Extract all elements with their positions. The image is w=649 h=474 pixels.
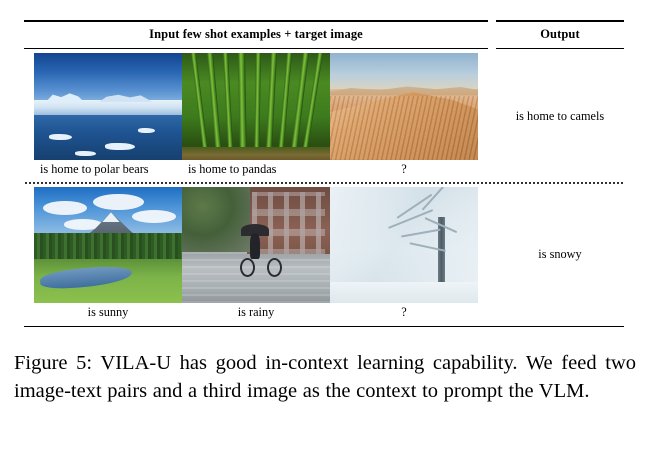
- cloud: [132, 210, 176, 223]
- row-habitat-examples: is home to polar bears is home to pandas…: [24, 53, 488, 180]
- rider-body: [250, 233, 260, 259]
- row-weather-captions: is sunny is rainy ?: [34, 303, 478, 323]
- row-habitat-output: is home to camels: [496, 53, 624, 180]
- figure-caption-text: Figure 5: VILA-U has good in-context lea…: [14, 352, 636, 402]
- column-gap: [488, 53, 496, 180]
- sunny-meadow-mountain-photo: [34, 187, 182, 303]
- column-gap-2: [488, 187, 496, 323]
- figure-caption: Figure 5: VILA-U has good in-context lea…: [14, 350, 636, 406]
- output-text: is home to camels: [516, 109, 604, 124]
- example-caption: is rainy: [182, 305, 330, 320]
- output-text: is snowy: [538, 247, 581, 262]
- frosted-branches: [377, 189, 469, 286]
- rainy-street-cyclist-photo: [182, 187, 330, 303]
- header-rule-output-column: [496, 48, 624, 49]
- table-top-rule: [24, 20, 624, 22]
- snowy-frosted-tree-photo: [330, 187, 478, 303]
- sand-ripples: [330, 96, 478, 160]
- rule-gap: [488, 20, 496, 22]
- bamboo-stalk: [254, 53, 261, 160]
- header-rule-input-column: [24, 48, 488, 49]
- row-weather-image-strip: [34, 187, 478, 303]
- header-output-column: Output: [496, 27, 624, 42]
- row-habitat-captions: is home to polar bears is home to pandas…: [34, 160, 478, 180]
- example-caption: is sunny: [34, 305, 182, 320]
- row-divider-dotted: [24, 182, 624, 184]
- table-row: is sunny is rainy ? is snowy: [24, 187, 624, 323]
- desert-sand-dune-photo: [330, 53, 478, 160]
- row-weather-output: is snowy: [496, 187, 624, 323]
- ice-floe: [138, 128, 156, 133]
- example-caption: is home to pandas: [182, 162, 330, 177]
- example-caption: ?: [330, 305, 478, 320]
- bicycle-wheel: [267, 258, 282, 277]
- top-rule-input-column: [24, 20, 488, 22]
- table-header-rule: [24, 48, 624, 49]
- example-caption: is home to polar bears: [34, 162, 182, 177]
- cloud: [43, 201, 87, 215]
- snow-ground: [330, 282, 478, 303]
- ice-floe: [105, 143, 135, 150]
- row-weather-examples: is sunny is rainy ?: [24, 187, 488, 323]
- iceberg-polar-sea-photo: [34, 53, 182, 160]
- forest-floor: [182, 147, 330, 160]
- cloud: [93, 194, 143, 210]
- table-header-row: Input few shot examples + target image O…: [24, 22, 624, 48]
- branch: [401, 228, 441, 237]
- bamboo-forest-photo: [182, 53, 330, 160]
- sky-region: [330, 53, 478, 89]
- table-bottom-rule: [24, 326, 624, 328]
- results-table: Input few shot examples + target image O…: [24, 20, 624, 327]
- branch: [409, 242, 445, 252]
- top-rule-output-column: [496, 20, 624, 22]
- rule-gap-2: [488, 48, 496, 49]
- row-habitat-image-strip: [34, 53, 478, 160]
- table-row: is home to polar bears is home to pandas…: [24, 53, 624, 180]
- header-input-column: Input few shot examples + target image: [24, 27, 488, 42]
- figure-page: Input few shot examples + target image O…: [0, 0, 649, 474]
- example-caption: ?: [330, 162, 478, 177]
- bicycle-wheel: [240, 258, 255, 277]
- cyclist-with-umbrella: [238, 224, 282, 277]
